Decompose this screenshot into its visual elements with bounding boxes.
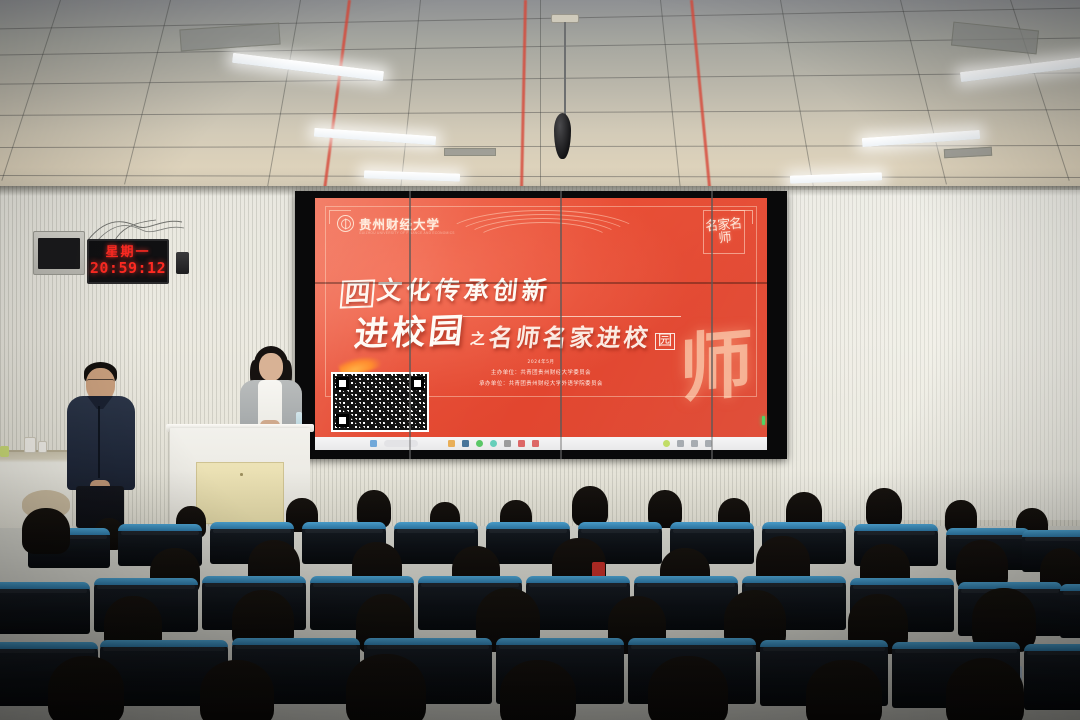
arc-ornament-icon (473, 222, 613, 264)
auditorium-seat (1060, 584, 1080, 638)
tray-app-icon[interactable] (663, 440, 670, 447)
tray-volume-icon[interactable] (691, 440, 698, 447)
video-wall-seam (711, 191, 713, 459)
man-shirt-placket (98, 406, 100, 478)
wall-ac-unit (33, 231, 85, 275)
paper-cup (38, 441, 47, 453)
wechat-icon[interactable] (476, 440, 483, 447)
led-wall-clock: 星期一 20:59:12 (87, 239, 169, 284)
audience-head (866, 488, 902, 528)
wps-icon[interactable] (518, 440, 525, 447)
auditorium-seat (1024, 644, 1080, 710)
credits-date: 2024年5月 (315, 359, 767, 365)
audience-head (346, 654, 426, 720)
university-seal-icon (337, 215, 354, 232)
audience-head (806, 660, 882, 720)
ceiling-mounted-camera (554, 113, 571, 159)
ceiling-red-stripe (690, 0, 712, 190)
ceiling (0, 0, 1080, 190)
ceiling-vent (951, 22, 1039, 55)
title-row-1: 四 文化传承创新 (341, 271, 741, 307)
video-wall-seam (315, 282, 767, 284)
start-icon[interactable] (370, 440, 377, 447)
ceiling-light (232, 53, 384, 81)
audience-head (572, 486, 608, 526)
paper-cup (24, 437, 36, 453)
auditorium-seat (0, 582, 90, 634)
ceiling-vent (444, 148, 496, 156)
university-subtitle: GUIZHOU UNIVERSITY OF FINANCE AND ECONOM… (359, 231, 455, 235)
title-line-1: 文化传承创新 (375, 271, 553, 307)
ceiling-light (960, 56, 1080, 82)
seated-audience (0, 470, 1080, 720)
green-cup (0, 446, 9, 457)
ceiling-red-stripe (322, 0, 351, 190)
seal-text: 名家名师 (703, 217, 745, 247)
video-wall-seam (409, 191, 411, 459)
explorer-icon[interactable] (448, 440, 455, 447)
video-wall-screen[interactable]: 贵州财经大学 GUIZHOU UNIVERSITY OF FINANCE AND… (315, 198, 767, 437)
ceiling-light (364, 170, 460, 181)
qq-icon[interactable] (490, 440, 497, 447)
qr-eye-icon (336, 414, 349, 427)
ceiling-vent (179, 23, 280, 52)
tim-icon[interactable] (462, 440, 469, 447)
video-wall-seam (560, 191, 562, 459)
qr-code[interactable] (331, 372, 429, 432)
calligraphy-seal-stamp: 名家名师 (703, 210, 745, 254)
woman-head (259, 353, 283, 381)
title-line-3: 名师名家进校 (487, 318, 653, 354)
audience-head (22, 508, 70, 554)
lecture-hall-photo: 星期一 20:59:12 贵州财经大学 GUIZHOU UNIVERSITY O… (0, 0, 1080, 720)
audience-head (648, 656, 728, 720)
title-connector: 之 (469, 328, 487, 354)
wps-writer-icon[interactable] (532, 440, 539, 447)
title-underline (463, 316, 681, 317)
windows-taskbar[interactable] (315, 437, 767, 450)
audience-head (500, 660, 576, 720)
audience-head (200, 660, 274, 720)
tray-network-icon[interactable] (677, 440, 684, 447)
ceiling-rod (564, 22, 566, 117)
wall-speaker (176, 252, 189, 274)
mail-icon[interactable] (504, 440, 511, 447)
lcd-video-wall[interactable]: 贵州财经大学 GUIZHOU UNIVERSITY OF FINANCE AND… (295, 191, 787, 459)
qr-eye-icon (336, 377, 349, 390)
ceiling-light (790, 172, 882, 183)
video-wall-power-led (762, 416, 765, 425)
audience-head (946, 658, 1024, 720)
audience-head (48, 656, 124, 720)
title-line-3-box: 园 (655, 333, 675, 350)
clock-time-label: 20:59:12 (90, 259, 166, 278)
ceiling-red-stripe (520, 0, 527, 190)
qr-eye-icon (411, 377, 424, 390)
ceiling-vent (944, 147, 992, 158)
clock-day-label: 星期一 (105, 246, 150, 259)
search-input[interactable] (384, 440, 418, 447)
glasses-icon (87, 379, 114, 384)
